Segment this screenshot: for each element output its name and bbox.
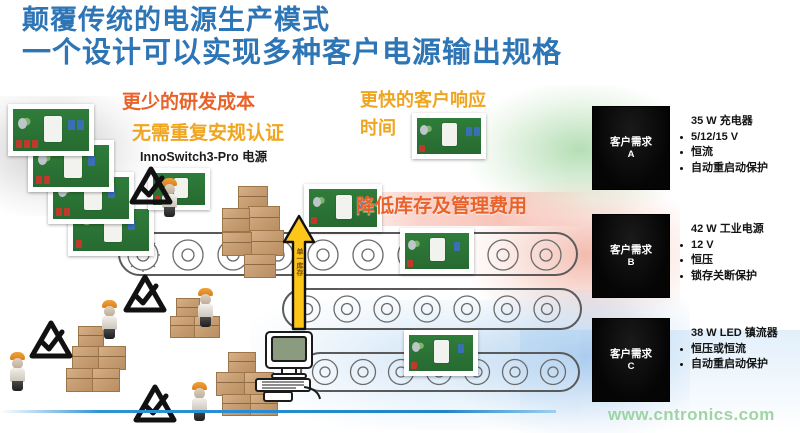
requirement-box-c: 客户需求 C	[592, 318, 670, 402]
requirement-a-bullet-3: 自动重启动保护	[677, 161, 768, 176]
annotation-no-recert: 无需重复安规认证	[132, 123, 284, 145]
requirement-b-bullet-2: 恒压	[677, 253, 764, 268]
pcb-board-icon	[400, 228, 474, 274]
requirement-c-bullet-2: 自动重启动保护	[677, 357, 778, 372]
customer-requirement-panel-b[interactable]: 客户需求 B 42 W 工业电源 12 V 恒压 锁存关断保护	[592, 214, 764, 298]
arrow-up-icon: 单一库存	[282, 214, 316, 332]
requirement-box-b: 客户需求 B	[592, 214, 670, 298]
cardboard-box-icon	[170, 316, 196, 338]
cardboard-box-icon	[222, 208, 250, 232]
requirement-box-a: 客户需求 A	[592, 106, 670, 190]
requirement-b-spec: 42 W 工业电源 12 V 恒压 锁存关断保护	[677, 214, 764, 284]
requirement-c-bullet-2-text: 自动重启动保护	[691, 358, 768, 370]
requirement-a-spec: 35 W 充电器 5/12/15 V 恒流 自动重启动保护	[677, 106, 768, 176]
bullet-icon	[680, 136, 683, 139]
requirement-box-b-label: 客户需求	[610, 243, 652, 257]
requirement-a-bullet-1: 5/12/15 V	[677, 130, 768, 145]
annotation-lower-inventory: 降低库存及管理费用	[356, 196, 527, 218]
requirement-b-bullet-2-text: 恒压	[691, 254, 713, 266]
cardboard-box-icon	[250, 230, 284, 256]
title-line-1: 颠覆传统的电源生产模式	[22, 4, 562, 36]
requirement-b-heading: 42 W 工业电源	[677, 220, 764, 236]
requirement-box-a-label: 客户需求	[610, 135, 652, 149]
bullet-icon	[680, 167, 683, 170]
requirement-c-bullet-1: 恒压或恒流	[677, 342, 778, 357]
requirement-b-bullet-3: 锁存关断保护	[677, 269, 764, 284]
annotation-faster-response-line1: 更快的客户响应	[360, 90, 486, 111]
requirement-c-bullet-1-text: 恒压或恒流	[691, 343, 746, 355]
gear-row	[292, 294, 572, 324]
arrow-label: 单一库存	[294, 248, 304, 276]
requirement-b-bullet-3-text: 锁存关断保护	[691, 270, 757, 282]
requirement-a-heading: 35 W 充电器	[677, 112, 768, 128]
approval-tick-icon	[132, 382, 178, 426]
title-line-2: 一个设计可以实现多种客户电源输出规格	[22, 36, 562, 71]
annotation-product-name: InnoSwitch3-Pro 电源	[140, 150, 267, 164]
annotation-faster-response-line2: 时间	[360, 118, 396, 139]
requirement-box-a-letter: A	[628, 149, 635, 162]
bullet-icon	[680, 259, 683, 262]
page-title: 颠覆传统的电源生产模式 一个设计可以实现多种客户电源输出规格	[22, 4, 562, 71]
requirement-box-c-label: 客户需求	[610, 347, 652, 361]
bullet-icon	[680, 244, 683, 247]
worker-icon	[190, 382, 210, 422]
cardboard-box-icon	[98, 346, 126, 370]
approval-tick-icon	[128, 164, 174, 208]
bullet-icon	[680, 275, 683, 278]
gear-icon	[126, 238, 566, 272]
worker-icon	[100, 300, 120, 340]
requirement-a-bullet-1-text: 5/12/15 V	[691, 131, 738, 143]
cardboard-box-icon	[222, 232, 252, 256]
approval-tick-icon	[122, 272, 168, 316]
bullet-icon	[680, 151, 683, 154]
pcb-board-icon	[404, 330, 478, 376]
bullet-icon	[680, 348, 683, 351]
slide-canvas: 颠覆传统的电源生产模式 一个设计可以实现多种客户电源输出规格	[0, 0, 800, 433]
cardboard-box-icon	[216, 372, 246, 396]
gear-row	[126, 238, 566, 272]
requirement-a-bullet-2-text: 恒流	[691, 146, 713, 158]
cardboard-box-icon	[72, 346, 100, 370]
requirement-box-b-letter: B	[628, 257, 635, 270]
requirement-a-bullet-3-text: 自动重启动保护	[691, 162, 768, 174]
requirement-c-heading: 38 W LED 镇流器	[677, 324, 778, 340]
gear-icon	[292, 294, 572, 324]
cardboard-box-icon	[66, 368, 94, 392]
requirement-b-bullet-1: 12 V	[677, 238, 764, 253]
cardboard-box-icon	[248, 206, 280, 232]
worker-icon	[8, 352, 28, 392]
requirement-c-spec: 38 W LED 镇流器 恒压或恒流 自动重启动保护	[677, 318, 778, 373]
bullet-icon	[680, 363, 683, 366]
desktop-computer-icon	[252, 330, 338, 402]
cardboard-box-icon	[244, 254, 276, 278]
annotation-rd-cost: 更少的研发成本	[122, 92, 255, 114]
customer-requirement-panel-c[interactable]: 客户需求 C 38 W LED 镇流器 恒压或恒流 自动重启动保护	[592, 318, 778, 402]
footer-rule	[0, 410, 556, 413]
requirement-box-c-letter: C	[628, 361, 635, 374]
cardboard-box-icon	[92, 368, 120, 392]
customer-requirement-panel-a[interactable]: 客户需求 A 35 W 充电器 5/12/15 V 恒流 自动重启动保护	[592, 106, 768, 190]
site-watermark: www.cntronics.com	[608, 405, 775, 425]
pcb-board-icon	[412, 113, 486, 159]
requirement-b-bullet-1-text: 12 V	[691, 239, 714, 251]
worker-icon	[196, 288, 216, 328]
pcb-board-icon	[8, 104, 94, 156]
approval-tick-icon	[28, 318, 74, 362]
requirement-a-bullet-2: 恒流	[677, 145, 768, 160]
